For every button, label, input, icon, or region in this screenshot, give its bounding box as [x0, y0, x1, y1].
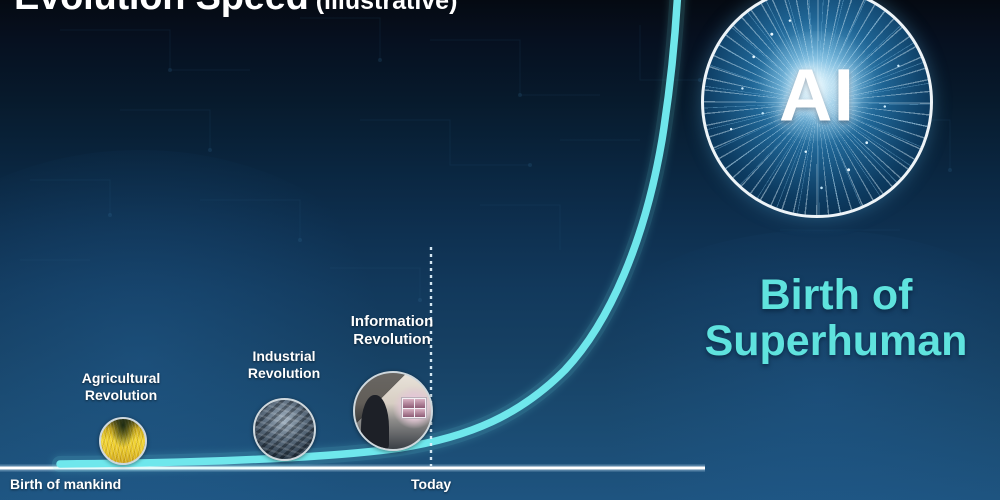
milestone-label-agricultural-line1: Agricultural [56, 370, 186, 387]
ai-label: AI [704, 53, 930, 138]
milestone-label-industrial-line1: Industrial [230, 348, 338, 365]
milestone-thumbnail-information [353, 371, 433, 451]
milestone-thumbnail-agricultural [99, 417, 147, 465]
milestone-label-industrial: Industrial Revolution [230, 348, 338, 382]
axis-label-today: Today [411, 476, 451, 492]
milestone-label-information: Information Revolution [337, 313, 447, 350]
superhuman-callout: Birth of Superhuman [676, 272, 996, 365]
milestone-label-agricultural: Agricultural Revolution [56, 370, 186, 404]
milestone-label-agricultural-line2: Revolution [56, 387, 186, 404]
person-silhouette [361, 395, 389, 449]
superhuman-callout-line2: Superhuman [676, 318, 996, 364]
axis-label-birth-of-mankind: Birth of mankind [10, 476, 121, 492]
milestone-thumbnail-industrial [253, 398, 316, 461]
milestone-label-information-line1: Information [337, 313, 447, 331]
milestone-label-industrial-line2: Revolution [230, 365, 338, 382]
superhuman-callout-line1: Birth of [676, 272, 996, 318]
video-call-screen [401, 397, 427, 419]
milestone-label-information-line2: Revolution [337, 331, 447, 349]
ai-badge: AI [701, 0, 933, 218]
slide-canvas: Evolution Speed(illustrative) Agricultur… [0, 0, 1000, 500]
